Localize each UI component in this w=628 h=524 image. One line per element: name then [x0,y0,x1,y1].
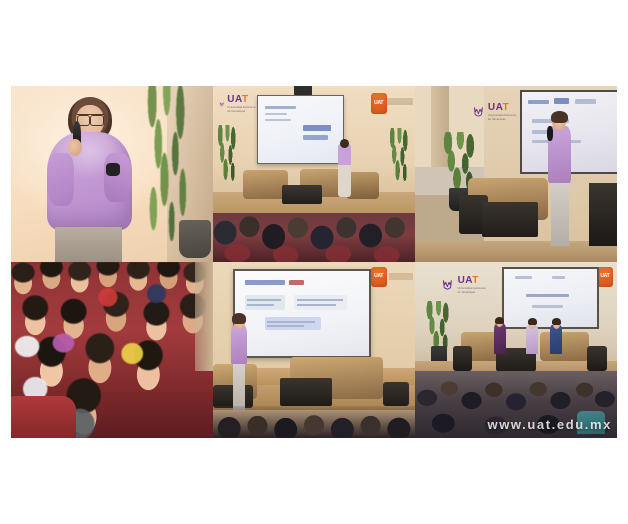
panelist-hair [552,318,561,325]
stage-ottoman [383,382,409,407]
uat-deer-head-icon [472,98,485,126]
slide-line [526,294,569,297]
coffee-table [282,185,322,204]
orange-badge-glyph: UAT [600,274,609,279]
wall-signage-bar [389,273,413,280]
slide-text-box [265,317,321,331]
page-root: Close-up of a woman speaker in a lilac b… [0,0,628,524]
panelist-figure [526,325,538,353]
speaker-hand [68,139,82,157]
uat-wordmark-letters: UAT [488,103,516,113]
collage-panel-bottom-center[interactable]: UAT Speaker presenting a slide with text… [213,262,415,438]
slide-line [528,100,549,104]
microphone-icon [547,126,553,140]
slide-line [575,99,596,104]
stage-ottoman [587,346,607,371]
audience-seating [213,213,415,262]
planter-pot [179,220,211,259]
slide-line [554,98,569,104]
uat-tagline-line1: Universidad Autónoma [227,106,255,109]
collage-panel-bottom-left[interactable]: Close-up of a student audience seated in… [11,262,213,438]
slide-line [265,113,287,115]
uat-wordmark: UAT Universidad Autónoma de Tamaulipas [458,276,486,294]
slide-line [515,276,532,279]
audience-seating [213,406,415,438]
speaker-hair [232,313,246,324]
uat-logo: UAT Universidad Autónoma de Tamaulipas [219,93,255,116]
slide-line [532,305,564,307]
uat-deer-head-icon [219,93,224,116]
projection-screen [502,267,599,329]
collage-panel-top-left[interactable]: Close-up of a woman speaker in a lilac b… [11,86,213,262]
audience-member [577,411,605,434]
orange-badge-glyph: UAT [374,101,383,106]
speaker-trousers [55,227,122,262]
slide-line [267,325,304,327]
slide-line [303,135,328,140]
collage-panel-top-center[interactable]: UAT Universidad Autónoma de Tamaulipas U… [213,86,415,262]
potted-plant-right [387,128,411,184]
audience-seating [415,371,617,438]
speaker-blouse [231,325,247,364]
slide-line [247,299,280,301]
uat-deer-head-icon [441,271,454,299]
uat-logo: UAT Universidad Autónoma de Tamaulipas [472,98,516,126]
panelist-figure [494,324,506,354]
slide-title-bar [245,280,285,285]
stage-floor [415,241,617,262]
uat-tagline-line2: de Tamaulipas [458,291,486,294]
panelist-hair [495,317,504,324]
collage-panel-bottom-right[interactable]: UAT Universidad Autónoma de Tamaulipas U… [415,262,617,438]
uat-wordmark-letters: UAT [458,276,486,286]
slide-line [297,304,337,306]
stage-ottoman [453,346,471,371]
orange-square-badge-icon: UAT [371,267,387,286]
slide-text-box [294,295,347,310]
slide-line [303,125,332,131]
speaker-head [340,139,349,148]
orange-square-badge-icon: UAT [597,267,613,286]
slide-title-accent [289,280,305,285]
projection-screen [233,269,370,357]
foreground-seat [11,396,76,438]
uat-logo: UAT Universidad Autónoma de Tamaulipas [441,271,485,299]
uat-tagline-line2: de Tamaulipas [227,110,255,113]
wall-signage-bar [387,98,413,105]
projection-screen [257,95,344,164]
hanging-plant [140,86,201,241]
uat-tagline-line2: de Tamaulipas [488,118,516,121]
slide-line [247,304,274,306]
uat-wordmark-letters: UAT [227,95,255,105]
eyeglasses-icon [77,114,104,122]
speaker-trousers [551,179,568,246]
speaker-figure [338,144,351,197]
uat-wordmark: UAT Universidad Autónoma de Tamaulipas [227,95,255,113]
speaker-trousers [233,361,245,410]
uat-tagline-line1: Universidad Autónoma [458,287,486,290]
slide-text-box [245,295,285,310]
photo-collage: Close-up of a woman speaker in a lilac b… [11,86,617,438]
slide-line [265,106,296,109]
panelist-hair [528,318,537,325]
stage-side-furniture [589,183,617,246]
panelist-figure [550,325,562,353]
speaker-right-arm [104,153,132,202]
coffee-table [482,202,539,237]
presentation-clicker [106,163,120,175]
slide-line [267,321,315,323]
coffee-table [280,378,333,406]
orange-badge-glyph: UAT [374,274,383,279]
slide-line [552,276,565,279]
stage-sofa [540,332,588,360]
slide-line [265,119,290,121]
uat-wordmark: UAT Universidad Autónoma de Tamaulipas [488,103,516,121]
stage-sofa [346,172,378,198]
slide-line [297,299,344,301]
collage-panel-top-right[interactable]: UAT Universidad Autónoma de Tamaulipas [415,86,617,262]
speaker-left-arm [47,153,73,206]
potted-plant-left [215,125,239,185]
side-wall [195,262,213,371]
uat-tagline-line1: Universidad Autónoma [488,114,516,117]
speaker-hair [551,111,568,123]
orange-square-badge-icon: UAT [371,93,387,114]
